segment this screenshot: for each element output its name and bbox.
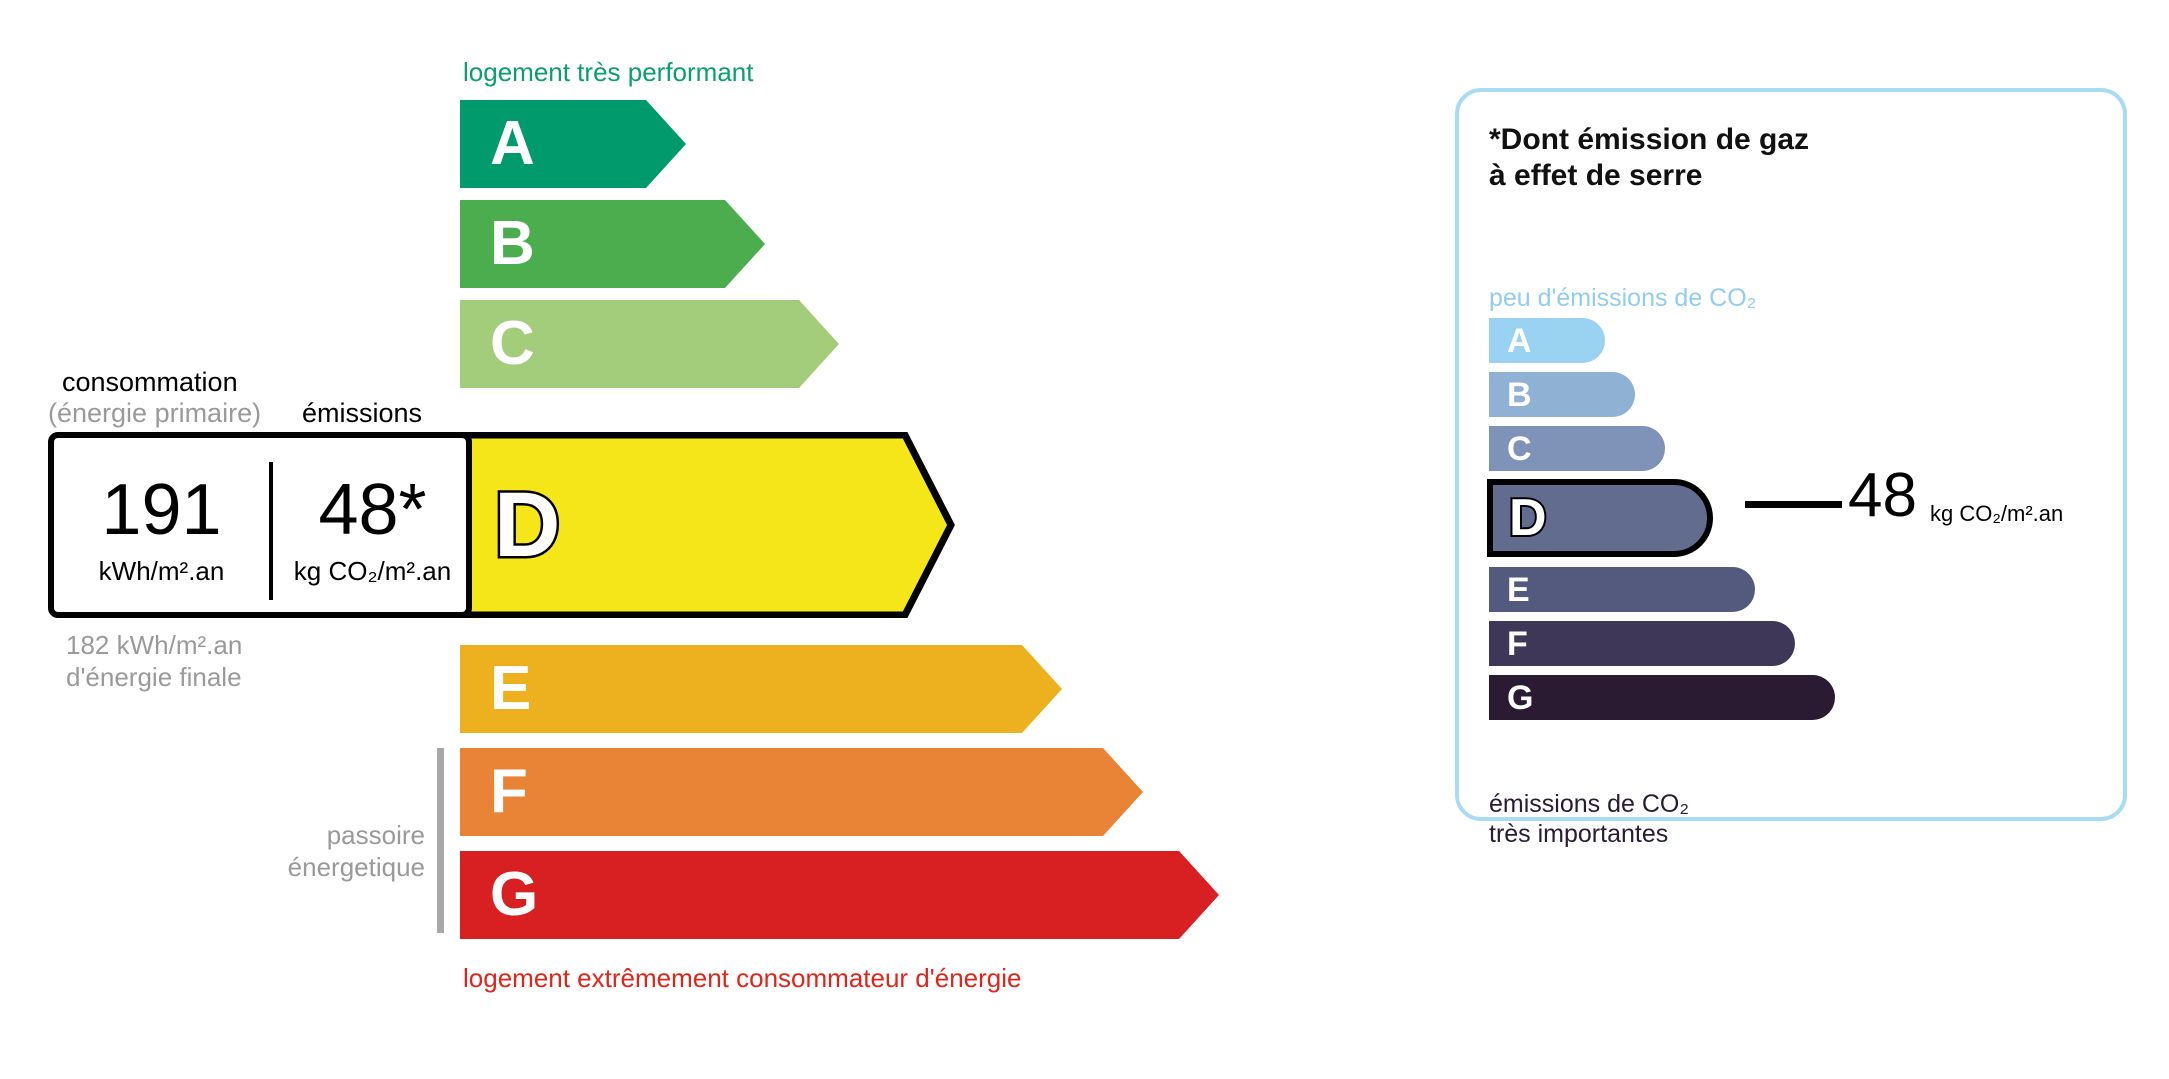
consumption-unit: kWh/m².an bbox=[99, 558, 225, 584]
grade-row-g[interactable]: G bbox=[460, 851, 1219, 939]
co2-grade-letter-g: G bbox=[1507, 681, 1533, 715]
co2-row-f[interactable]: F bbox=[1489, 621, 1795, 666]
co2-grade-letter-e: E bbox=[1507, 573, 1530, 607]
grade-row-c[interactable]: C bbox=[460, 300, 839, 388]
final-energy-note: 182 kWh/m².an d'énergie finale bbox=[66, 630, 242, 693]
grade-letter-c: C bbox=[490, 313, 535, 375]
grade-letter-e: E bbox=[490, 658, 531, 720]
co2-panel-title: *Dont émission de gaz à effet de serre bbox=[1489, 122, 1809, 194]
co2-callout-value: 48 bbox=[1848, 465, 1917, 527]
label-emissions: émissions bbox=[302, 398, 422, 429]
co2-title-line2: à effet de serre bbox=[1489, 159, 1702, 192]
grade-row-e[interactable]: E bbox=[460, 645, 1062, 733]
passoire-energetique-label: passoire énergetique bbox=[270, 820, 425, 883]
grade-letter-g: G bbox=[490, 864, 538, 926]
co2-grade-letter-c: C bbox=[1507, 432, 1532, 466]
grade-arrow-g bbox=[460, 851, 1219, 939]
co2-top-caption: peu d'émissions de CO₂ bbox=[1489, 284, 1756, 313]
consumption-cell: 191 kWh/m².an bbox=[54, 438, 269, 612]
consumption-value: 191 bbox=[101, 474, 221, 546]
passoire-bracket-line bbox=[437, 748, 444, 933]
energy-performance-scale: logement très performant A B C bbox=[0, 0, 1380, 1079]
grade-row-f[interactable]: F bbox=[460, 748, 1143, 836]
co2-title-line1: *Dont émission de gaz bbox=[1489, 123, 1809, 156]
co2-bar-f bbox=[1489, 621, 1795, 666]
co2-grade-letter-a: A bbox=[1507, 324, 1532, 358]
grade-letter-f: F bbox=[490, 761, 528, 823]
co2-row-b[interactable]: B bbox=[1489, 372, 1635, 417]
co2-callout-leader-line bbox=[1745, 501, 1842, 508]
scale-top-caption: logement très performant bbox=[463, 57, 753, 88]
co2-grade-letter-d: D bbox=[1509, 492, 1547, 544]
co2-row-d-selected[interactable]: D bbox=[1487, 479, 1713, 557]
emissions-value: 48* bbox=[318, 474, 426, 546]
grade-letter-b: B bbox=[490, 213, 535, 275]
passoire-line2: énergetique bbox=[288, 852, 425, 882]
emissions-cell: 48* kg CO₂/m².an bbox=[273, 438, 472, 612]
emissions-unit: kg CO₂/m².an bbox=[294, 558, 451, 584]
co2-grade-letter-f: F bbox=[1507, 627, 1528, 661]
co2-bottom-line1: émissions de CO₂ bbox=[1489, 790, 1689, 818]
co2-row-g[interactable]: G bbox=[1489, 675, 1835, 720]
grade-arrow-e bbox=[460, 645, 1062, 733]
grade-row-d-selected[interactable]: D bbox=[460, 432, 955, 618]
co2-emissions-panel: *Dont émission de gaz à effet de serre p… bbox=[1455, 88, 2127, 821]
grade-letter-d: D bbox=[494, 479, 560, 571]
final-energy-line2: d'énergie finale bbox=[66, 662, 242, 692]
co2-bottom-caption: émissions de CO₂ très importantes bbox=[1489, 789, 1689, 849]
scale-bottom-caption: logement extrêmement consommateur d'éner… bbox=[463, 963, 1021, 994]
co2-grade-letter-b: B bbox=[1507, 378, 1532, 412]
grade-arrow-f bbox=[460, 748, 1143, 836]
passoire-line1: passoire bbox=[327, 820, 425, 850]
co2-callout-unit: kg CO₂/m².an bbox=[1930, 503, 2063, 525]
grade-row-a[interactable]: A bbox=[460, 100, 686, 188]
final-energy-line1: 182 kWh/m².an bbox=[66, 630, 242, 660]
grade-letter-a: A bbox=[490, 113, 535, 175]
co2-row-a[interactable]: A bbox=[1489, 318, 1605, 363]
co2-row-c[interactable]: C bbox=[1489, 426, 1665, 471]
co2-row-e[interactable]: E bbox=[1489, 567, 1755, 612]
label-energie-primaire: (énergie primaire) bbox=[48, 398, 261, 429]
grade-row-b[interactable]: B bbox=[460, 200, 765, 288]
co2-bottom-line2: très importantes bbox=[1489, 820, 1668, 848]
co2-bar-g bbox=[1489, 675, 1835, 720]
value-box: 191 kWh/m².an 48* kg CO₂/m².an bbox=[48, 432, 472, 618]
label-consommation: consommation bbox=[62, 367, 238, 398]
